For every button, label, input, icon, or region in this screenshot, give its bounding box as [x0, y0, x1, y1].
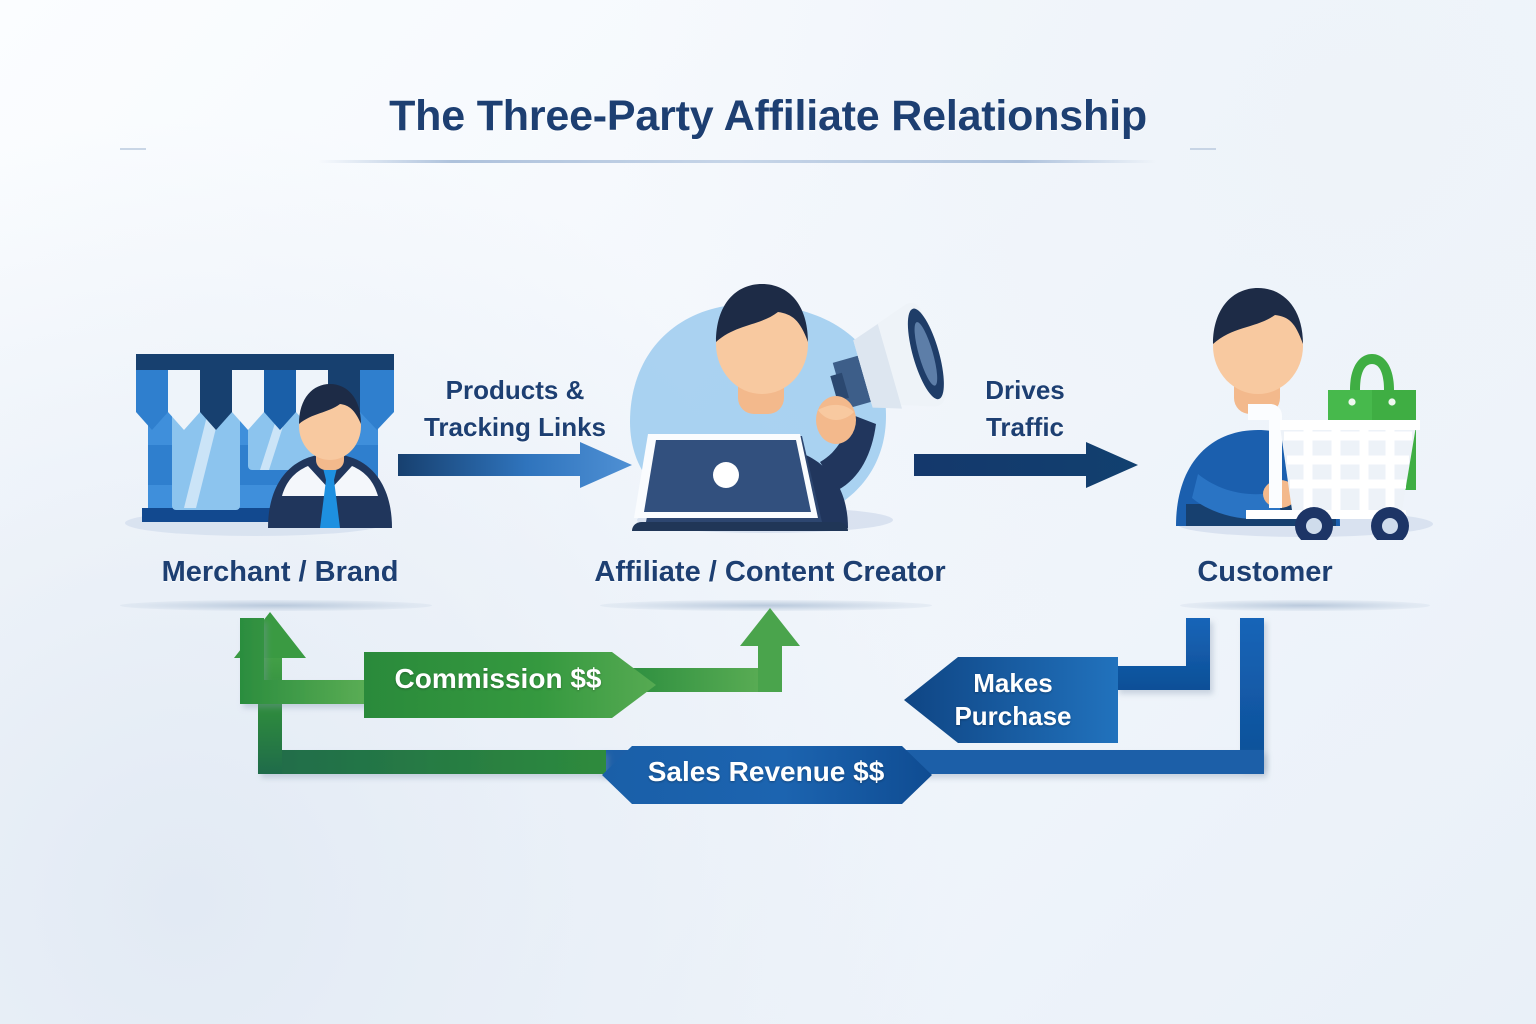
- path-commission-up-stem: [758, 640, 782, 692]
- banner-commission: [362, 648, 662, 722]
- affiliate-relationship-diagram: The Three-Party Affiliate Relationship: [0, 0, 1536, 1024]
- path-makes-purchase-leg: [1116, 618, 1210, 690]
- path-sales-revenue-vertical-right: [1240, 618, 1264, 768]
- title-underline: [318, 160, 1156, 163]
- node-label-affiliate: Affiliate / Content Creator: [540, 556, 1000, 589]
- node-customer-illustration: [1140, 278, 1470, 540]
- node-affiliate-illustration: [590, 272, 950, 540]
- title-rule-right-tick: [1190, 148, 1216, 150]
- arrow-right-icon: [914, 442, 1138, 488]
- arrow-right-icon: [398, 442, 632, 488]
- path-commission-left-leg: [240, 618, 370, 704]
- banner-makes-purchase: [900, 655, 1120, 745]
- customer-shopping-cart-icon: [1140, 278, 1470, 540]
- flow-label-line1: Drives: [920, 372, 1130, 409]
- banner-sales-revenue: [598, 744, 934, 806]
- page-title-wrap: The Three-Party Affiliate Relationship: [0, 92, 1536, 141]
- arrow-affiliate-to-customer: [912, 440, 1142, 490]
- flow-label-line1: Products &: [400, 372, 630, 409]
- node-label-merchant: Merchant / Brand: [60, 556, 500, 589]
- flow-label-products-tracking-links: Products & Tracking Links: [400, 372, 630, 446]
- page-title: The Three-Party Affiliate Relationship: [389, 92, 1147, 141]
- node-label-customer: Customer: [1100, 556, 1430, 589]
- title-rule-left-tick: [120, 148, 146, 150]
- creator-laptop-megaphone-icon: [590, 272, 950, 540]
- arrow-merchant-to-affiliate: [396, 440, 636, 490]
- flow-label-drives-traffic: Drives Traffic: [920, 372, 1130, 446]
- arrow-up-to-affiliate-icon: [740, 608, 800, 646]
- path-sales-revenue-green-leg: [258, 750, 606, 774]
